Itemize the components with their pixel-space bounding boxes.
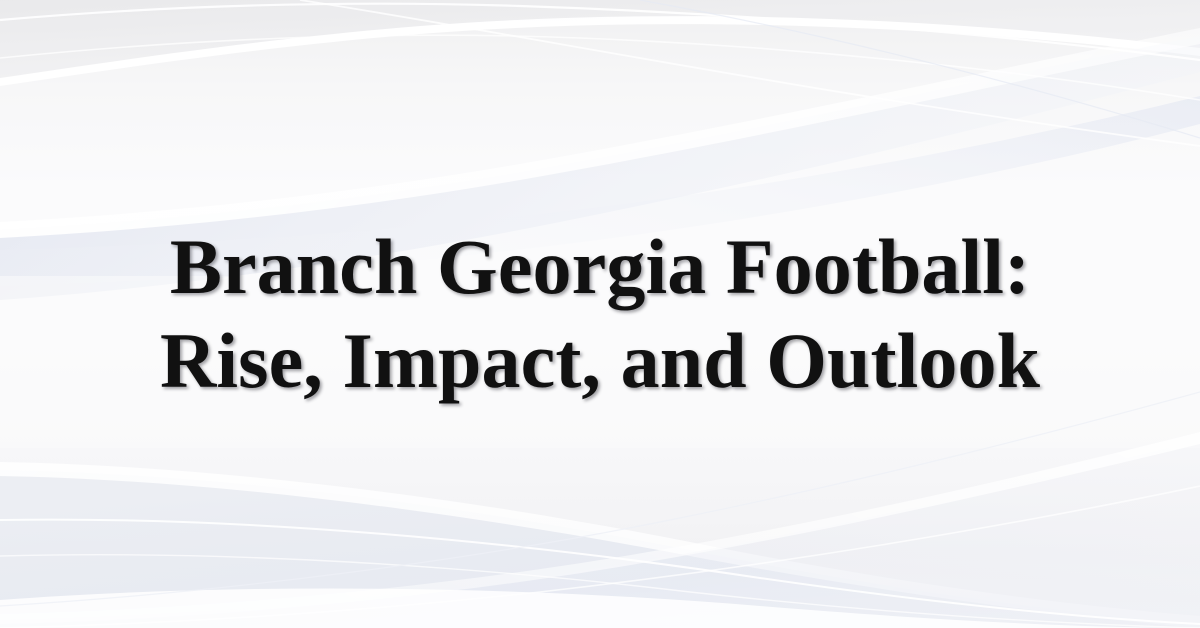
page-title-line-2: Rise, Impact, and Outlook — [70, 314, 1130, 408]
og-title-card: Branch Georgia Football: Rise, Impact, a… — [0, 0, 1200, 628]
page-title-line-1: Branch Georgia Football: — [70, 220, 1130, 314]
page-title: Branch Georgia Football: Rise, Impact, a… — [70, 220, 1130, 408]
headline-container: Branch Georgia Football: Rise, Impact, a… — [0, 0, 1200, 628]
